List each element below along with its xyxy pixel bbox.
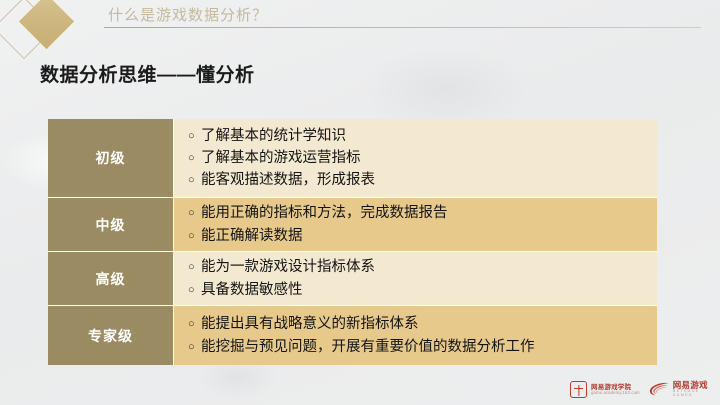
table-row-label: 专家级 <box>48 306 174 365</box>
table-row-label: 初级 <box>48 119 174 197</box>
academy-url-label: game.academy.163.com <box>591 391 640 396</box>
slide-canvas: 什么是游戏数据分析？ 数据分析思维——懂分析 初级 ○ 了解基本的统计学知识 ○… <box>0 0 720 405</box>
games-sub-label: NETEASE GAMES <box>673 390 716 397</box>
list-item-text: 具备数据敏感性 <box>201 279 303 301</box>
list-item: ○ 能用正确的指标和方法，完成数据报告 <box>188 202 651 224</box>
list-item-text: 了解基本的游戏运营指标 <box>201 147 361 169</box>
list-item-text: 能挖掘与预见问题，开展有重要价值的数据分析工作 <box>201 336 535 358</box>
netease-games-logo: 网易游戏 NETEASE GAMES <box>649 381 716 397</box>
table-row-content: ○ 了解基本的统计学知识 ○ 了解基本的游戏运营指标 ○ 能客观描述数据，形成报… <box>174 119 657 197</box>
bullet-icon: ○ <box>188 262 201 273</box>
section-header-title: 什么是游戏数据分析？ <box>108 4 268 25</box>
bullet-icon: ○ <box>188 208 201 219</box>
table-row-label: 中级 <box>48 198 174 251</box>
academy-text-block: 网易游戏学院 game.academy.163.com <box>591 384 640 396</box>
bullet-icon: ○ <box>188 342 201 353</box>
list-item-text: 能正确解读数据 <box>201 225 303 247</box>
table-row-content: ○ 能为一款游戏设计指标体系 ○ 具备数据敏感性 <box>174 252 657 305</box>
page-title: 数据分析思维——懂分析 <box>40 60 255 87</box>
levels-table: 初级 ○ 了解基本的统计学知识 ○ 了解基本的游戏运营指标 ○ 能客观描述数据，… <box>48 119 657 365</box>
table-row: 初级 ○ 了解基本的统计学知识 ○ 了解基本的游戏运营指标 ○ 能客观描述数据，… <box>48 119 657 197</box>
bullet-icon: ○ <box>188 175 201 186</box>
list-item-text: 了解基本的统计学知识 <box>201 125 346 147</box>
table-row-content: ○ 能提出具有战略意义的新指标体系 ○ 能挖掘与预见问题，开展有重要价值的数据分… <box>174 306 657 365</box>
header-divider-rule <box>104 27 701 28</box>
list-item: ○ 了解基本的游戏运营指标 <box>188 147 651 169</box>
academy-mark-icon <box>570 381 587 398</box>
list-item: ○ 能挖掘与预见问题，开展有重要价值的数据分析工作 <box>188 336 651 358</box>
list-item: ○ 了解基本的统计学知识 <box>188 125 651 147</box>
footer-logos: 网易游戏学院 game.academy.163.com 网易游戏 NETEASE… <box>570 378 716 401</box>
netease-academy-logo: 网易游戏学院 game.academy.163.com <box>570 381 640 398</box>
bullet-icon: ○ <box>188 319 201 330</box>
list-item: ○ 能正确解读数据 <box>188 225 651 247</box>
list-item: ○ 具备数据敏感性 <box>188 279 651 301</box>
list-item-text: 能提出具有战略意义的新指标体系 <box>201 313 419 335</box>
list-item-text: 能为一款游戏设计指标体系 <box>201 256 375 278</box>
bullet-icon: ○ <box>188 153 201 164</box>
table-row: 中级 ○ 能用正确的指标和方法，完成数据报告 ○ 能正确解读数据 <box>48 197 657 251</box>
list-item: ○ 能客观描述数据，形成报表 <box>188 169 651 191</box>
table-row-content: ○ 能用正确的指标和方法，完成数据报告 ○ 能正确解读数据 <box>174 198 657 251</box>
table-row: 高级 ○ 能为一款游戏设计指标体系 ○ 具备数据敏感性 <box>48 251 657 305</box>
list-item: ○ 能为一款游戏设计指标体系 <box>188 256 651 278</box>
bullet-icon: ○ <box>188 285 201 296</box>
flame-icon <box>649 382 670 396</box>
bullet-icon: ○ <box>188 131 201 142</box>
list-item: ○ 能提出具有战略意义的新指标体系 <box>188 313 651 335</box>
list-item-text: 能客观描述数据，形成报表 <box>201 169 375 191</box>
games-text-block: 网易游戏 NETEASE GAMES <box>673 381 716 397</box>
bullet-icon: ○ <box>188 231 201 242</box>
table-row-label: 高级 <box>48 252 174 305</box>
table-row: 专家级 ○ 能提出具有战略意义的新指标体系 ○ 能挖掘与预见问题，开展有重要价值… <box>48 305 657 365</box>
list-item-text: 能用正确的指标和方法，完成数据报告 <box>201 202 448 224</box>
